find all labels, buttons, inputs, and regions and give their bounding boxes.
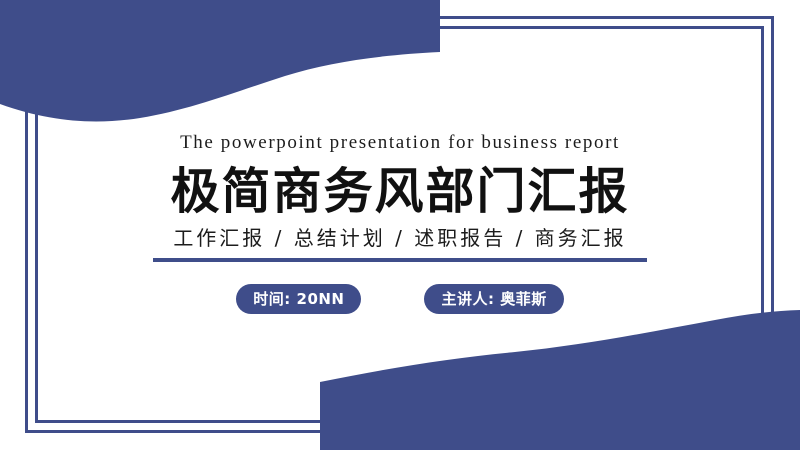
eyebrow-text: The powerpoint presentation for business… bbox=[0, 128, 800, 158]
subtitle-text: 工作汇报 / 总结计划 / 述职报告 / 商务汇报 bbox=[0, 224, 800, 252]
badge-row: 时间: 20NN 主讲人: 奥菲斯 bbox=[0, 284, 800, 314]
presentation-slide: The powerpoint presentation for business… bbox=[0, 0, 800, 450]
title-underline-rule bbox=[153, 258, 647, 262]
date-badge[interactable]: 时间: 20NN bbox=[236, 284, 361, 314]
presenter-badge[interactable]: 主讲人: 奥菲斯 bbox=[424, 284, 563, 314]
slide-content: The powerpoint presentation for business… bbox=[0, 128, 800, 314]
page-title: 极简商务风部门汇报 bbox=[0, 164, 800, 220]
